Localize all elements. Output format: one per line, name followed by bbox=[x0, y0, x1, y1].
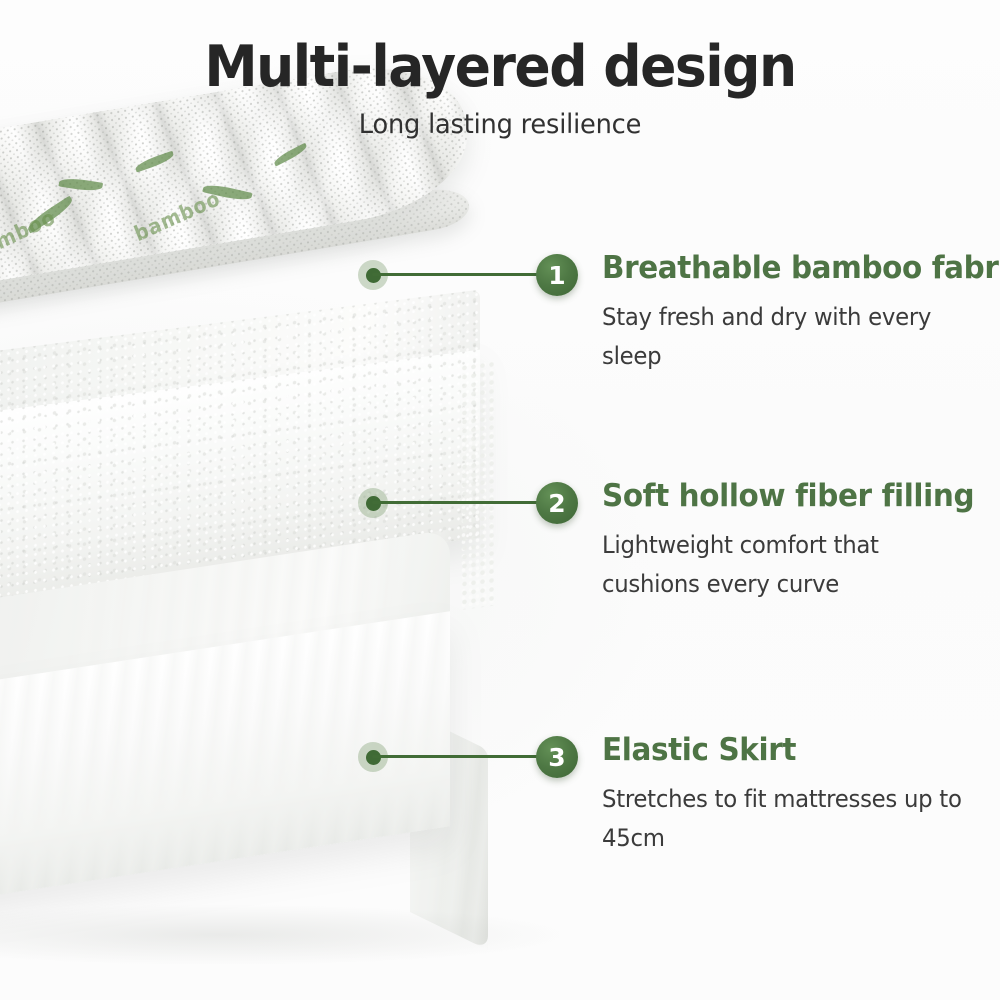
page-subtitle: Long lasting resilience bbox=[25, 98, 975, 141]
callout-heading: Soft hollow fiber filling bbox=[602, 478, 982, 514]
header: Multi-layered design Long lasting resili… bbox=[0, 0, 1000, 141]
page-title: Multi-layered design bbox=[30, 0, 970, 98]
infographic-canvas: Multi-layered design Long lasting resili… bbox=[0, 0, 1000, 1000]
callout-heading: Elastic Skirt bbox=[602, 732, 982, 768]
callout-text-block: Elastic Skirt Stretches to fit mattresse… bbox=[602, 732, 1000, 858]
callout-text-block: Soft hollow fiber filling Lightweight co… bbox=[602, 478, 1000, 604]
callout-number-badge: 3 bbox=[536, 736, 578, 778]
callout-list: 1 Breathable bamboo fabric Stay fresh an… bbox=[0, 0, 1000, 1000]
callout-body: Stretches to fit mattresses up to 45cm bbox=[602, 768, 982, 858]
leader-line bbox=[372, 755, 558, 758]
callout-body: Lightweight comfort that cushions every … bbox=[602, 514, 982, 604]
callout-number-badge: 2 bbox=[536, 482, 578, 524]
callout-body: Stay fresh and dry with every sleep bbox=[602, 286, 982, 376]
callout-number-badge: 1 bbox=[536, 254, 578, 296]
callout-heading: Breathable bamboo fabric bbox=[602, 250, 982, 286]
leader-line bbox=[372, 273, 558, 276]
leader-line bbox=[372, 501, 558, 504]
callout-text-block: Breathable bamboo fabric Stay fresh and … bbox=[602, 250, 1000, 376]
